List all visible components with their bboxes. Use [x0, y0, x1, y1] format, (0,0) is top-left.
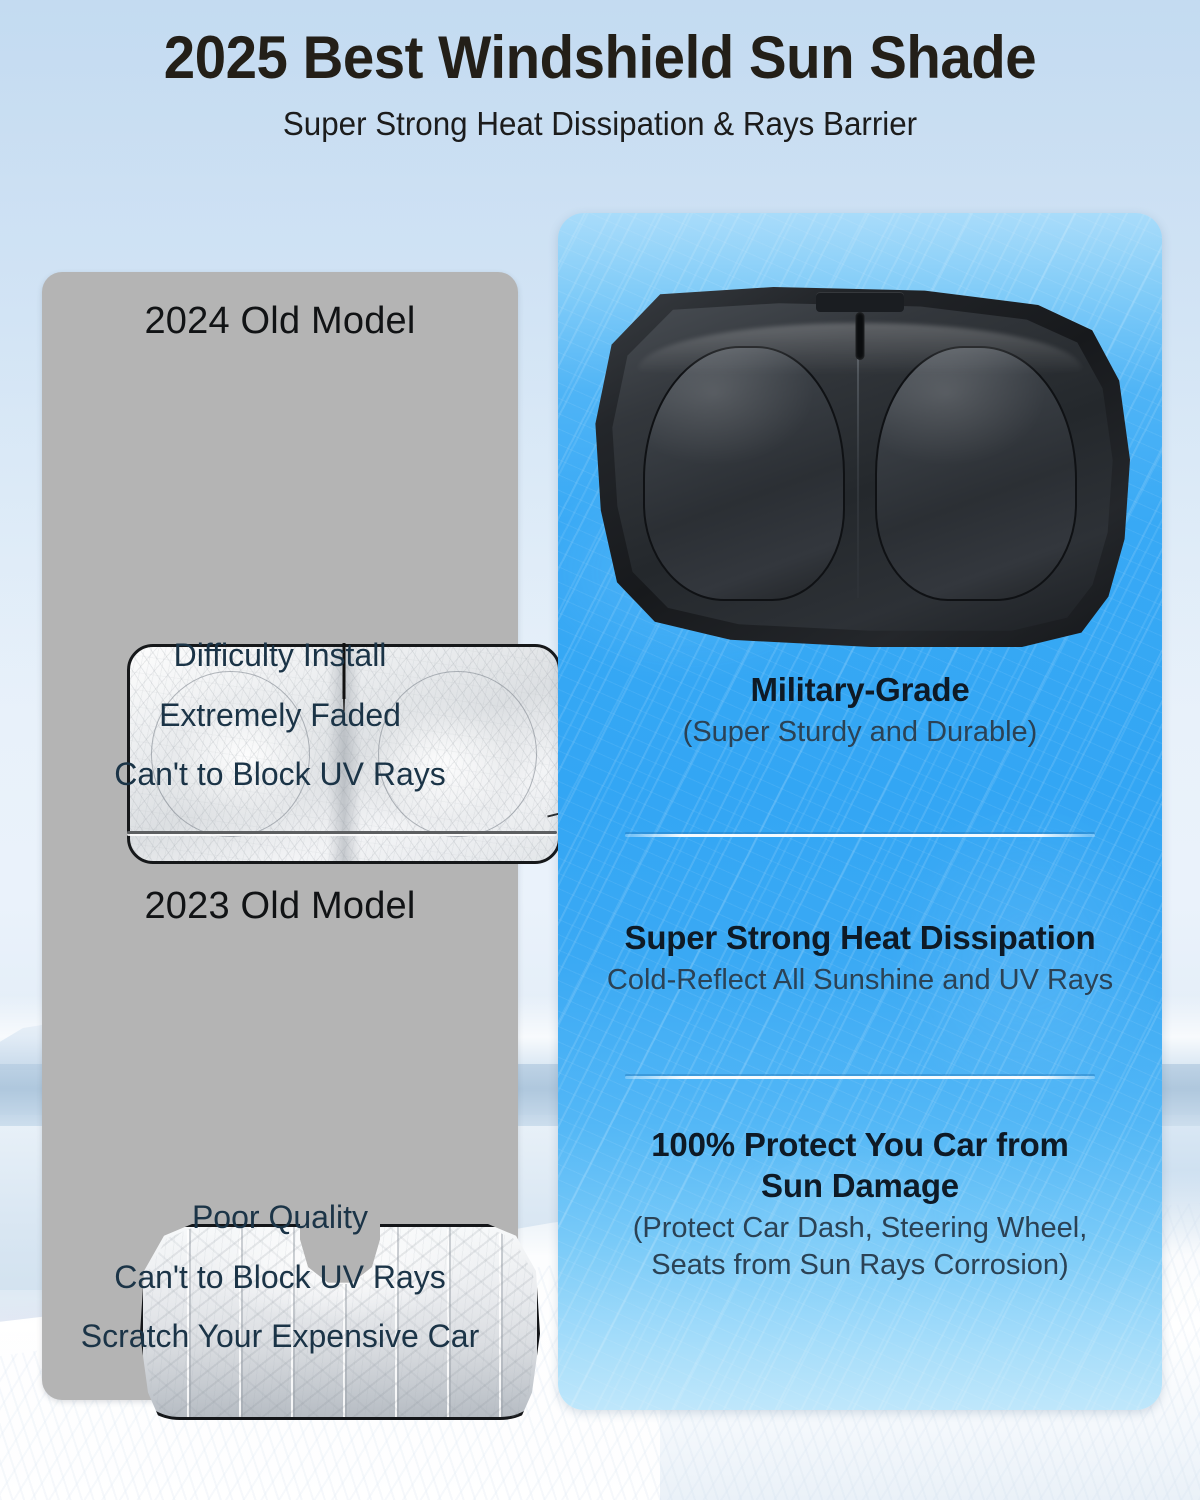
old-bullet: Can't to Block UV Rays [42, 1248, 518, 1308]
old-model-2023-heading-wrap: 2023 Old Model [42, 885, 518, 928]
center-slot [856, 312, 865, 360]
panel-divider [127, 831, 557, 834]
old-model-2024-heading-wrap: 2024 Old Model [42, 300, 518, 343]
feature-title-line-1: 100% Protect You Car from [558, 1125, 1162, 1166]
old-model-2023-bullets: Poor Quality Can't to Block UV Rays Scra… [42, 1188, 518, 1367]
old-model-2024-bullets: Difficulty Install Extremely Faded Can't… [42, 626, 518, 805]
old-model-2024-heading: 2024 Old Model [42, 300, 518, 343]
old-bullet: Poor Quality [42, 1188, 518, 1248]
infographic-canvas: 2025 Best Windshield Sun Shade Super Str… [0, 0, 1200, 1500]
feature-subtitle-line-1: (Protect Car Dash, Steering Wheel, [558, 1210, 1162, 1247]
feature-subtitle: Cold-Reflect All Sunshine and UV Rays [558, 962, 1162, 999]
old-bullet: Can't to Block UV Rays [42, 745, 518, 805]
feature-title-line-2: Sun Damage [558, 1166, 1162, 1207]
feature-military-grade: Military-Grade (Super Sturdy and Durable… [558, 670, 1162, 751]
old-model-2023-heading: 2023 Old Model [42, 885, 518, 928]
old-bullet: Scratch Your Expensive Car [42, 1307, 518, 1367]
feature-title: Super Strong Heat Dissipation [558, 918, 1162, 959]
feature-title: Military-Grade [558, 670, 1162, 711]
page-title: 2025 Best Windshield Sun Shade [36, 26, 1164, 89]
feature-subtitle-line-2: Seats from Sun Rays Corrosion) [558, 1247, 1162, 1284]
page-subtitle: Super Strong Heat Dissipation & Rays Bar… [30, 105, 1170, 143]
feature-divider [625, 1076, 1095, 1079]
sunshade-2025-icon [590, 287, 1130, 647]
new-model-panel: Military-Grade (Super Sturdy and Durable… [558, 213, 1162, 1410]
old-bullet: Difficulty Install [42, 626, 518, 686]
feature-divider [625, 834, 1095, 837]
old-bullet: Extremely Faded [42, 686, 518, 746]
feature-subtitle: (Super Sturdy and Durable) [558, 714, 1162, 751]
center-tab [816, 292, 904, 312]
feature-heat-dissipation: Super Strong Heat Dissipation Cold-Refle… [558, 918, 1162, 999]
header: 2025 Best Windshield Sun Shade Super Str… [0, 26, 1200, 143]
old-models-panel: 2024 Old Model Difficulty Install Extrem… [42, 272, 518, 1400]
feature-sun-protection: 100% Protect You Car from Sun Damage (Pr… [558, 1125, 1162, 1284]
